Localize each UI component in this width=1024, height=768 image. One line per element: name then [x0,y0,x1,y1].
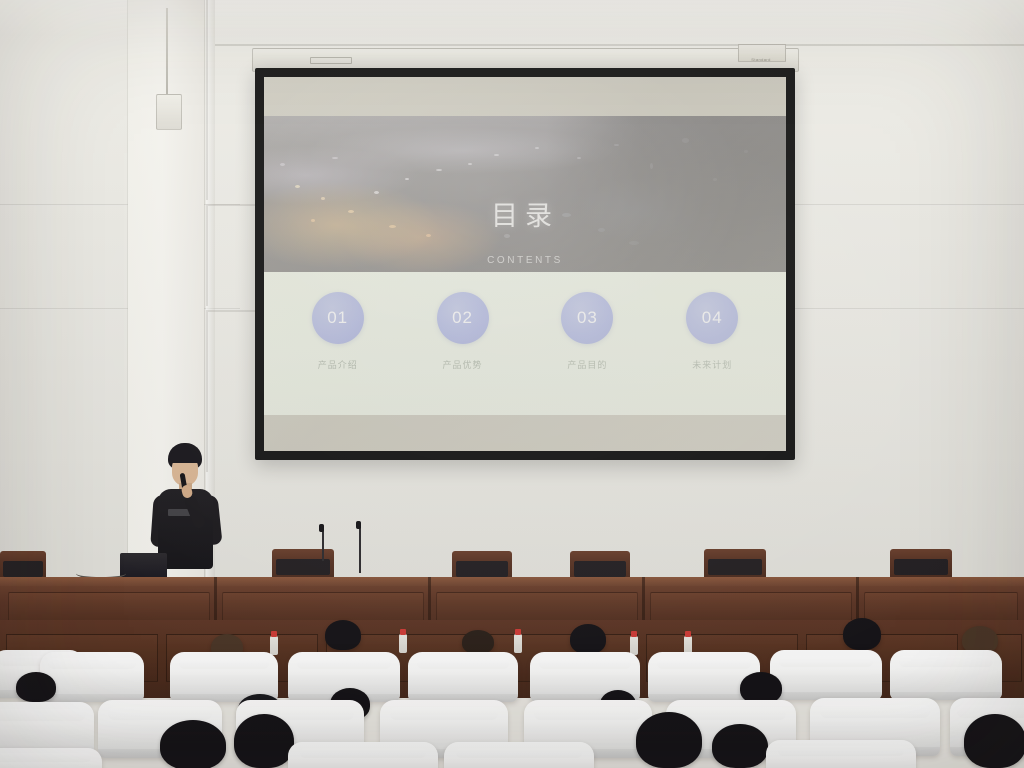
slide-item: 03 产品目的 [535,292,641,371]
stage-chair [0,551,46,579]
water-bottle [514,634,522,653]
wall-panel-edge [206,310,262,312]
laptop [120,553,167,577]
projected-slide: 目录 CONTENTS 01 产品介绍 02 产品优势 [264,77,786,451]
podium-desktop-edge [0,577,1024,586]
audience-head [712,724,768,768]
audience-head [234,714,294,768]
audience-head [462,630,494,654]
audience-head [636,712,702,768]
slide-title: 目录 [264,194,786,233]
audience-chair [770,650,882,700]
gooseneck-mic-stand [359,527,361,573]
audience-head [843,618,881,650]
roller-brand-label: Standard [740,57,782,62]
slide-item-label: 产品优势 [410,358,516,371]
audience-chair [890,650,1002,700]
gooseneck-mic-head [319,524,324,532]
hanging-wire [166,8,168,96]
audience-head [964,714,1024,768]
wall-seam-right-upper [786,204,1024,206]
stage-chair [272,549,334,577]
wall-seam-right-lower [786,308,1024,310]
ceiling-seam [215,44,1024,46]
audience-chair [288,742,438,768]
stage-chair [452,551,512,579]
slide-subtitle: CONTENTS [264,255,786,266]
slide-item: 02 产品优势 [410,292,516,371]
slide-item-label: 产品目的 [535,358,641,371]
slide-item: 04 未来计划 [659,292,765,371]
stage-chair [704,549,766,577]
audience-chair [0,748,102,768]
audience-head [16,672,56,702]
slide-item: 01 产品介绍 [285,292,391,371]
slide-contents-panel: 01 产品介绍 02 产品优势 03 产品目的 [264,272,786,416]
lecture-hall-photo: Standard [0,0,1024,768]
slide-item-label: 未来计划 [659,358,765,371]
slide-item-number-circle: 02 [437,292,489,344]
slide-item-number-circle: 03 [561,292,613,344]
water-bottle [270,636,278,655]
stage-chair [890,549,952,577]
wall-seam-left-upper [0,204,240,206]
gooseneck-mic-head [356,521,361,529]
gooseneck-mic-stand [322,529,324,561]
audience-chair [408,652,518,702]
roller-vent-slot [310,57,352,64]
wall-panel-edge [206,204,262,206]
audience-chair [444,742,594,768]
audience-head [325,620,361,650]
slide-item-list: 01 产品介绍 02 产品优势 03 产品目的 [285,292,765,371]
audience-head [160,720,226,768]
presenter-fringe [169,451,201,463]
slide-content: 目录 CONTENTS 01 产品介绍 02 产品优势 [264,116,786,415]
stage-chair [570,551,630,579]
slide-item-label: 产品介绍 [285,358,391,371]
wall-mounted-box [156,94,182,130]
audience-chair [40,652,144,702]
audience-chair [766,740,916,768]
water-bottle [399,634,407,653]
slide-item-number-circle: 04 [686,292,738,344]
screen-surface: 目录 CONTENTS 01 产品介绍 02 产品优势 [264,77,786,451]
projection-screen: 目录 CONTENTS 01 产品介绍 02 产品优势 [255,68,795,460]
wall-panel-edge [206,0,208,200]
slide-item-number-circle: 01 [312,292,364,344]
wall-seam-left-lower [0,308,240,310]
wall-panel-edge [206,206,208,306]
audience-head [570,624,606,654]
